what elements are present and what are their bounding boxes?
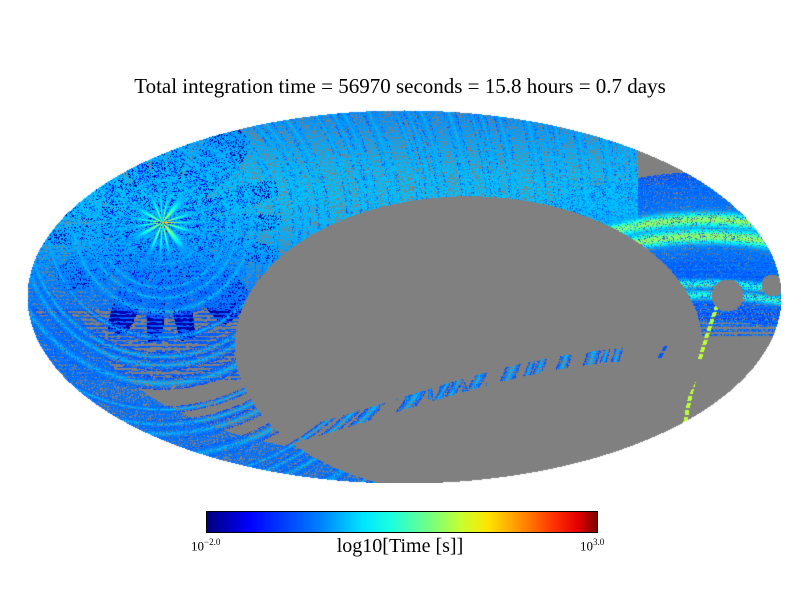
colorbar [206, 511, 598, 533]
figure-canvas: Total integration time = 56970 seconds =… [0, 0, 800, 600]
colorbar-tick-min-exponent: −2.0 [204, 537, 220, 547]
colorbar-gradient [206, 511, 598, 533]
colorbar-tick-max-mantissa: 10 [580, 538, 593, 553]
colorbar-tick-min-mantissa: 10 [191, 538, 204, 553]
colorbar-tick-max-exponent: 3.0 [593, 537, 604, 547]
sky-map [27, 110, 781, 483]
colorbar-label: log10[Time [s]] [0, 535, 800, 558]
colorbar-tick-min: 10−2.0 [191, 537, 220, 554]
page-title: Total integration time = 56970 seconds =… [0, 74, 800, 99]
colorbar-tick-max: 103.0 [580, 537, 604, 554]
mollweide-projection-plot [27, 110, 781, 483]
